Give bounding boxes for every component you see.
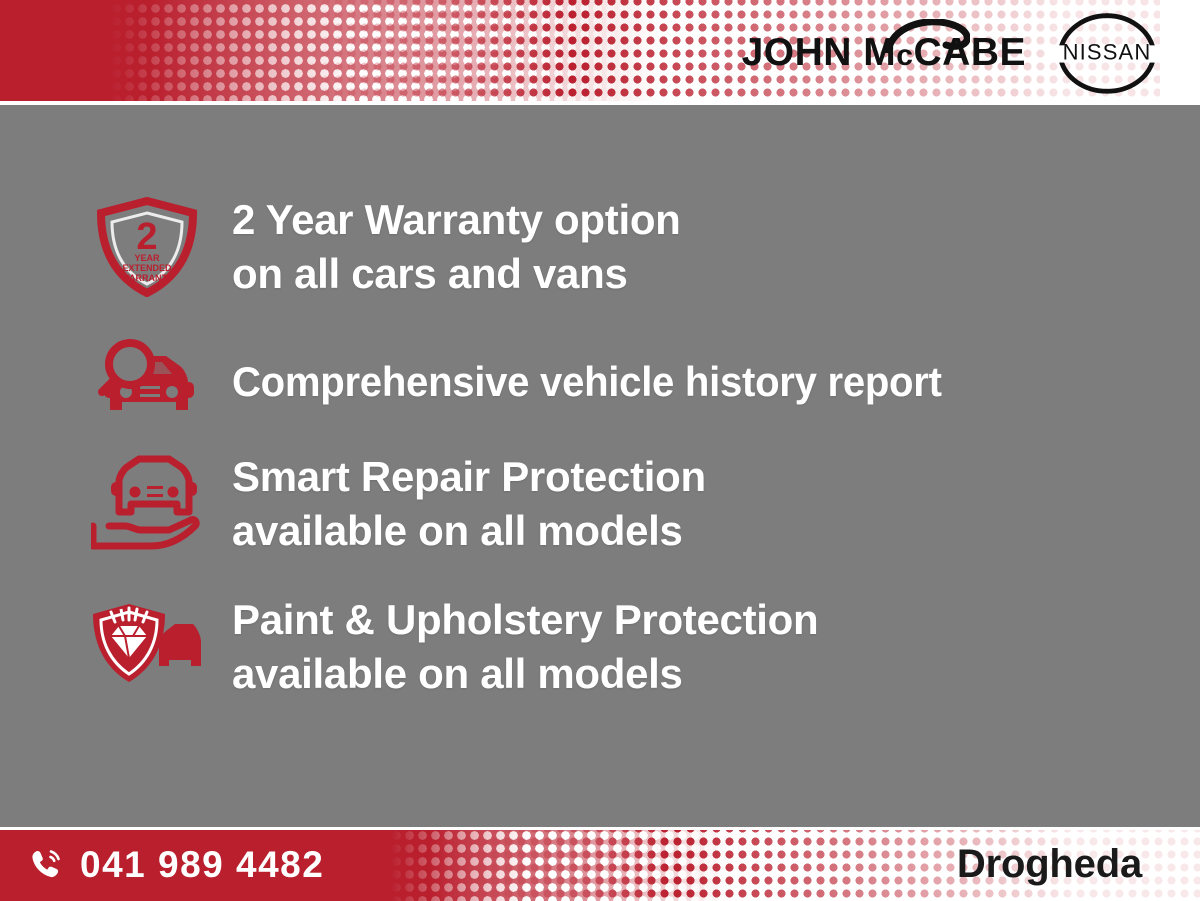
svg-text:EXTENDED: EXTENDED [122,263,172,273]
phone-contact[interactable]: 041 989 4482 [28,827,324,901]
car-magnifier-icon [88,330,206,434]
feature-label-paint-upholstery: Paint & Upholstery Protection available … [232,593,818,701]
feature-item-paint-upholstery: Paint & Upholstery Protection available … [88,593,818,701]
svg-text:YEAR: YEAR [134,253,160,263]
dealer-name-mc: c [896,39,913,72]
dealership-promo-poster: JOHN McCABE NISSAN 2 [0,0,1200,901]
dealer-name-part2: CABE [913,31,1026,74]
features-list: 2 YEAR EXTENDED WARRANTY 2 Year Warranty… [0,105,1200,827]
svg-text:NISSAN: NISSAN [1063,39,1152,64]
location-label: Drogheda [957,827,1142,901]
feature-item-smart-repair: Smart Repair Protection available on all… [88,450,706,558]
feature-item-history-report: Comprehensive vehicle history report [88,330,975,434]
header-banner: JOHN McCABE NISSAN [0,0,1200,105]
feature-label-smart-repair: Smart Repair Protection available on all… [232,450,706,558]
svg-text:WARRANTY: WARRANTY [121,273,173,283]
nissan-logo-icon: NISSAN [1048,9,1166,97]
svg-text:2: 2 [136,216,157,258]
dealer-name-part1: JOHN M [742,31,897,74]
dealer-wordmark: JOHN McCABE [742,33,1026,72]
footer-banner: 041 989 4482 Drogheda [0,827,1200,901]
phone-call-icon [28,846,64,882]
diamond-shield-car-icon [88,595,206,699]
car-on-hand-icon [88,452,206,556]
warranty-shield-icon: 2 YEAR EXTENDED WARRANTY [88,195,206,299]
phone-number-text[interactable]: 041 989 4482 [80,846,324,883]
feature-label-history-report: Comprehensive vehicle history report [232,355,942,409]
feature-item-warranty: 2 YEAR EXTENDED WARRANTY 2 Year Warranty… [88,193,681,301]
brand-lockup: JOHN McCABE NISSAN [742,0,1166,105]
feature-label-warranty: 2 Year Warranty option on all cars and v… [232,193,681,301]
